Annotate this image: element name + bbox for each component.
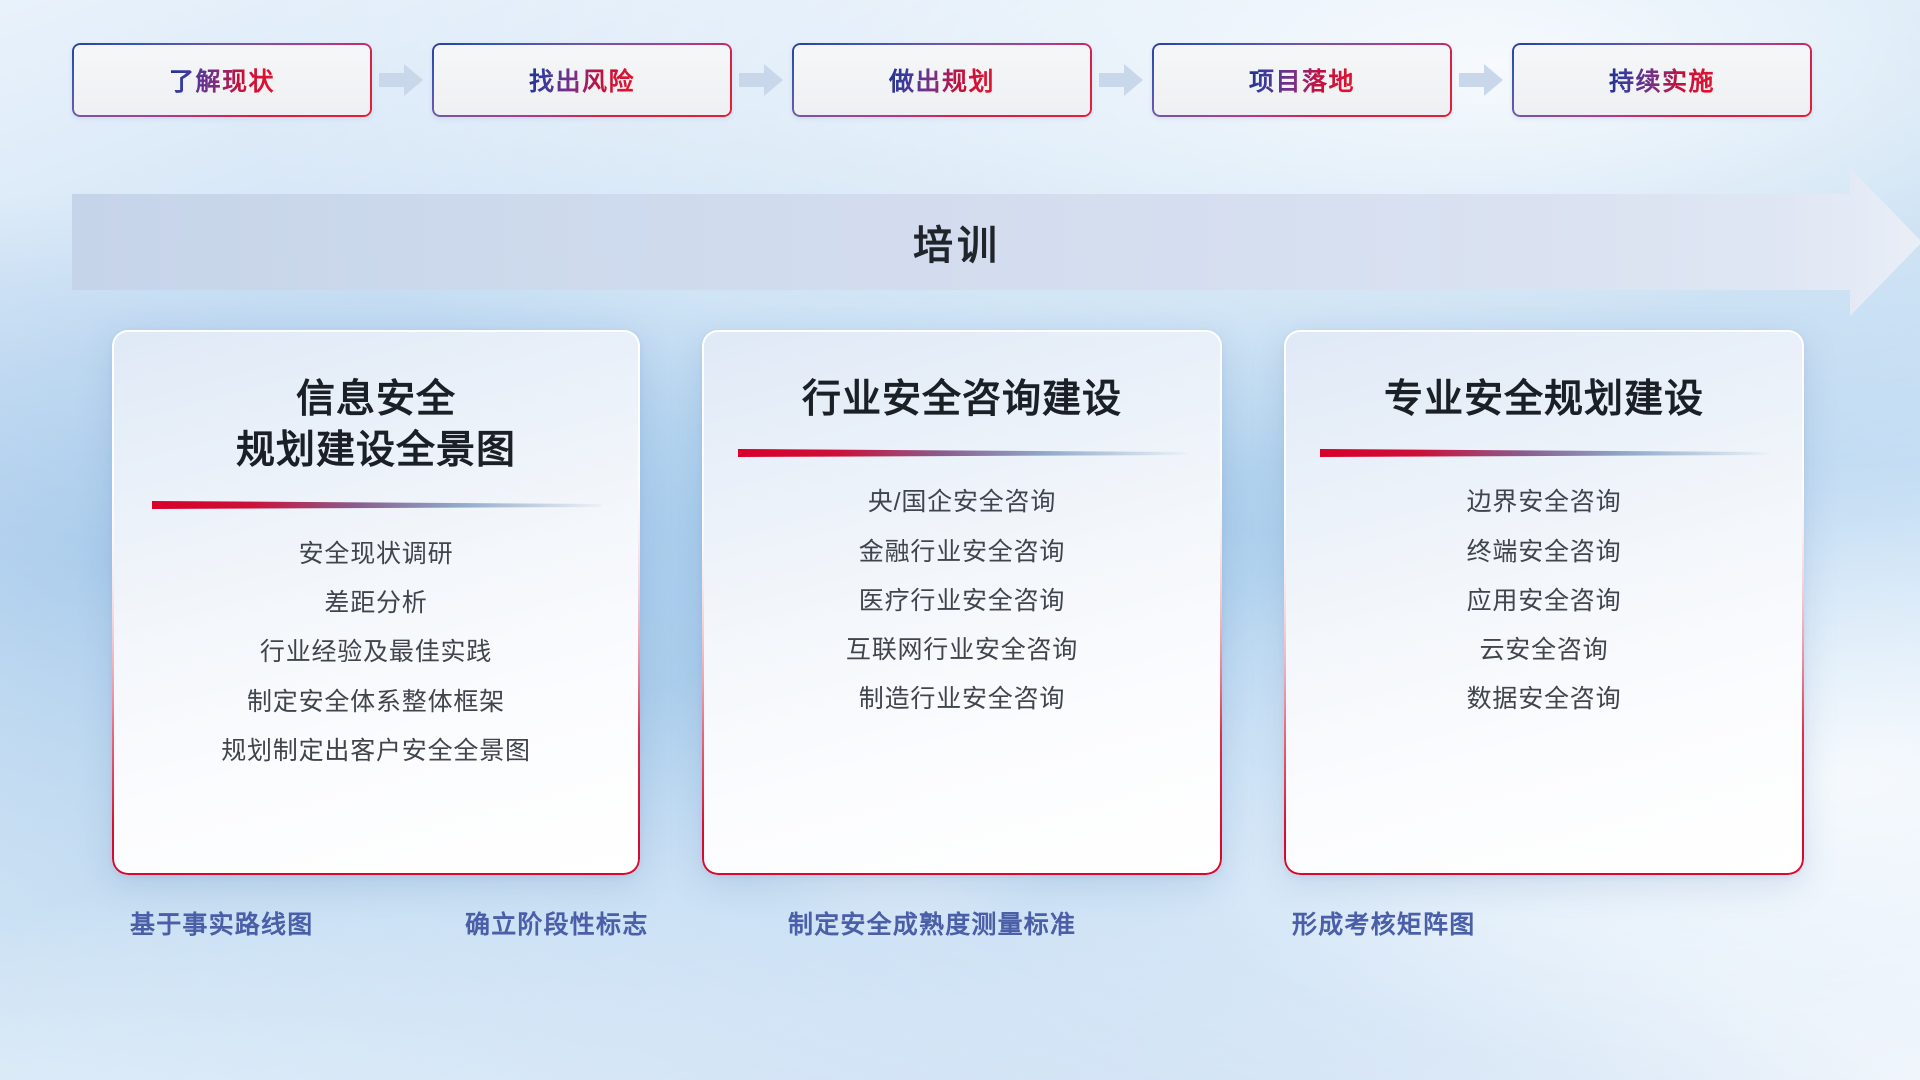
card-item-list: 央/国企安全咨询 金融行业安全咨询 医疗行业安全咨询 互联网行业安全咨询 制造行… — [732, 487, 1192, 715]
card-professional-security-planning[interactable]: 专业安全规划建设 — [1284, 330, 1804, 875]
list-item: 制定安全体系整体框架 — [247, 687, 505, 718]
process-step-label: 做出规划 — [889, 62, 995, 98]
process-step-label: 持续实施 — [1609, 62, 1715, 98]
process-step-label: 找出风险 — [529, 62, 635, 98]
arrow-right-icon — [732, 58, 792, 102]
card-title: 行业安全咨询建设 — [802, 374, 1122, 425]
footnote-label: 基于事实路线图 — [130, 905, 313, 941]
card-title: 专业安全规划建设 — [1384, 374, 1704, 425]
card-item-list: 安全现状调研 差距分析 行业经验及最佳实践 制定安全体系整体框架 规划制定出客户… — [142, 539, 610, 767]
list-item: 行业经验及最佳实践 — [260, 637, 492, 668]
process-step-1[interactable]: 了解现状 — [72, 43, 372, 117]
training-banner: 培训 — [72, 194, 1918, 290]
process-step-4[interactable]: 项目落地 — [1152, 43, 1452, 117]
card-item-list: 边界安全咨询 终端安全咨询 应用安全咨询 云安全咨询 数据安全咨询 — [1314, 487, 1774, 715]
card-title: 信息安全 规划建设全景图 — [236, 374, 516, 477]
list-item: 终端安全咨询 — [1467, 537, 1622, 568]
card-row: 信息安全 规划建设全景图 — [0, 330, 1920, 890]
list-item: 医疗行业安全咨询 — [859, 586, 1065, 617]
process-step-label: 项目落地 — [1249, 62, 1355, 98]
gradient-divider-icon — [150, 495, 602, 515]
list-item: 数据安全咨询 — [1467, 684, 1622, 715]
process-step-label: 了解现状 — [169, 62, 275, 98]
list-item: 制造行业安全咨询 — [859, 684, 1065, 715]
process-step-row: 了解现状 找出风险 做出规划 项目落地 持续实施 — [0, 0, 1920, 160]
footnote-label: 确立阶段性标志 — [465, 905, 648, 941]
training-banner-title: 培训 — [72, 194, 1842, 290]
gradient-divider-icon — [1318, 443, 1770, 463]
list-item: 差距分析 — [324, 588, 427, 619]
list-item: 安全现状调研 — [299, 539, 454, 570]
gradient-divider-icon — [736, 443, 1188, 463]
list-item: 云安全咨询 — [1479, 635, 1608, 666]
list-item: 金融行业安全咨询 — [859, 537, 1065, 568]
arrow-right-icon — [1092, 58, 1152, 102]
footnote-row: 基于事实路线图 确立阶段性标志 制定安全成熟度测量标准 形成考核矩阵图 — [0, 905, 1920, 975]
card-industry-security-consulting[interactable]: 行业安全咨询建设 — [702, 330, 1222, 875]
arrow-right-icon — [1452, 58, 1512, 102]
list-item: 边界安全咨询 — [1467, 487, 1622, 518]
list-item: 应用安全咨询 — [1467, 586, 1622, 617]
list-item: 互联网行业安全咨询 — [846, 635, 1078, 666]
list-item: 央/国企安全咨询 — [868, 487, 1056, 518]
footnote-label: 形成考核矩阵图 — [1292, 905, 1475, 941]
list-item: 规划制定出客户安全全景图 — [221, 736, 531, 767]
process-step-3[interactable]: 做出规划 — [792, 43, 1092, 117]
process-step-5[interactable]: 持续实施 — [1512, 43, 1812, 117]
footnote-label: 制定安全成熟度测量标准 — [788, 905, 1076, 941]
card-information-security-blueprint[interactable]: 信息安全 规划建设全景图 — [112, 330, 640, 875]
arrow-right-icon — [372, 58, 432, 102]
process-step-2[interactable]: 找出风险 — [432, 43, 732, 117]
